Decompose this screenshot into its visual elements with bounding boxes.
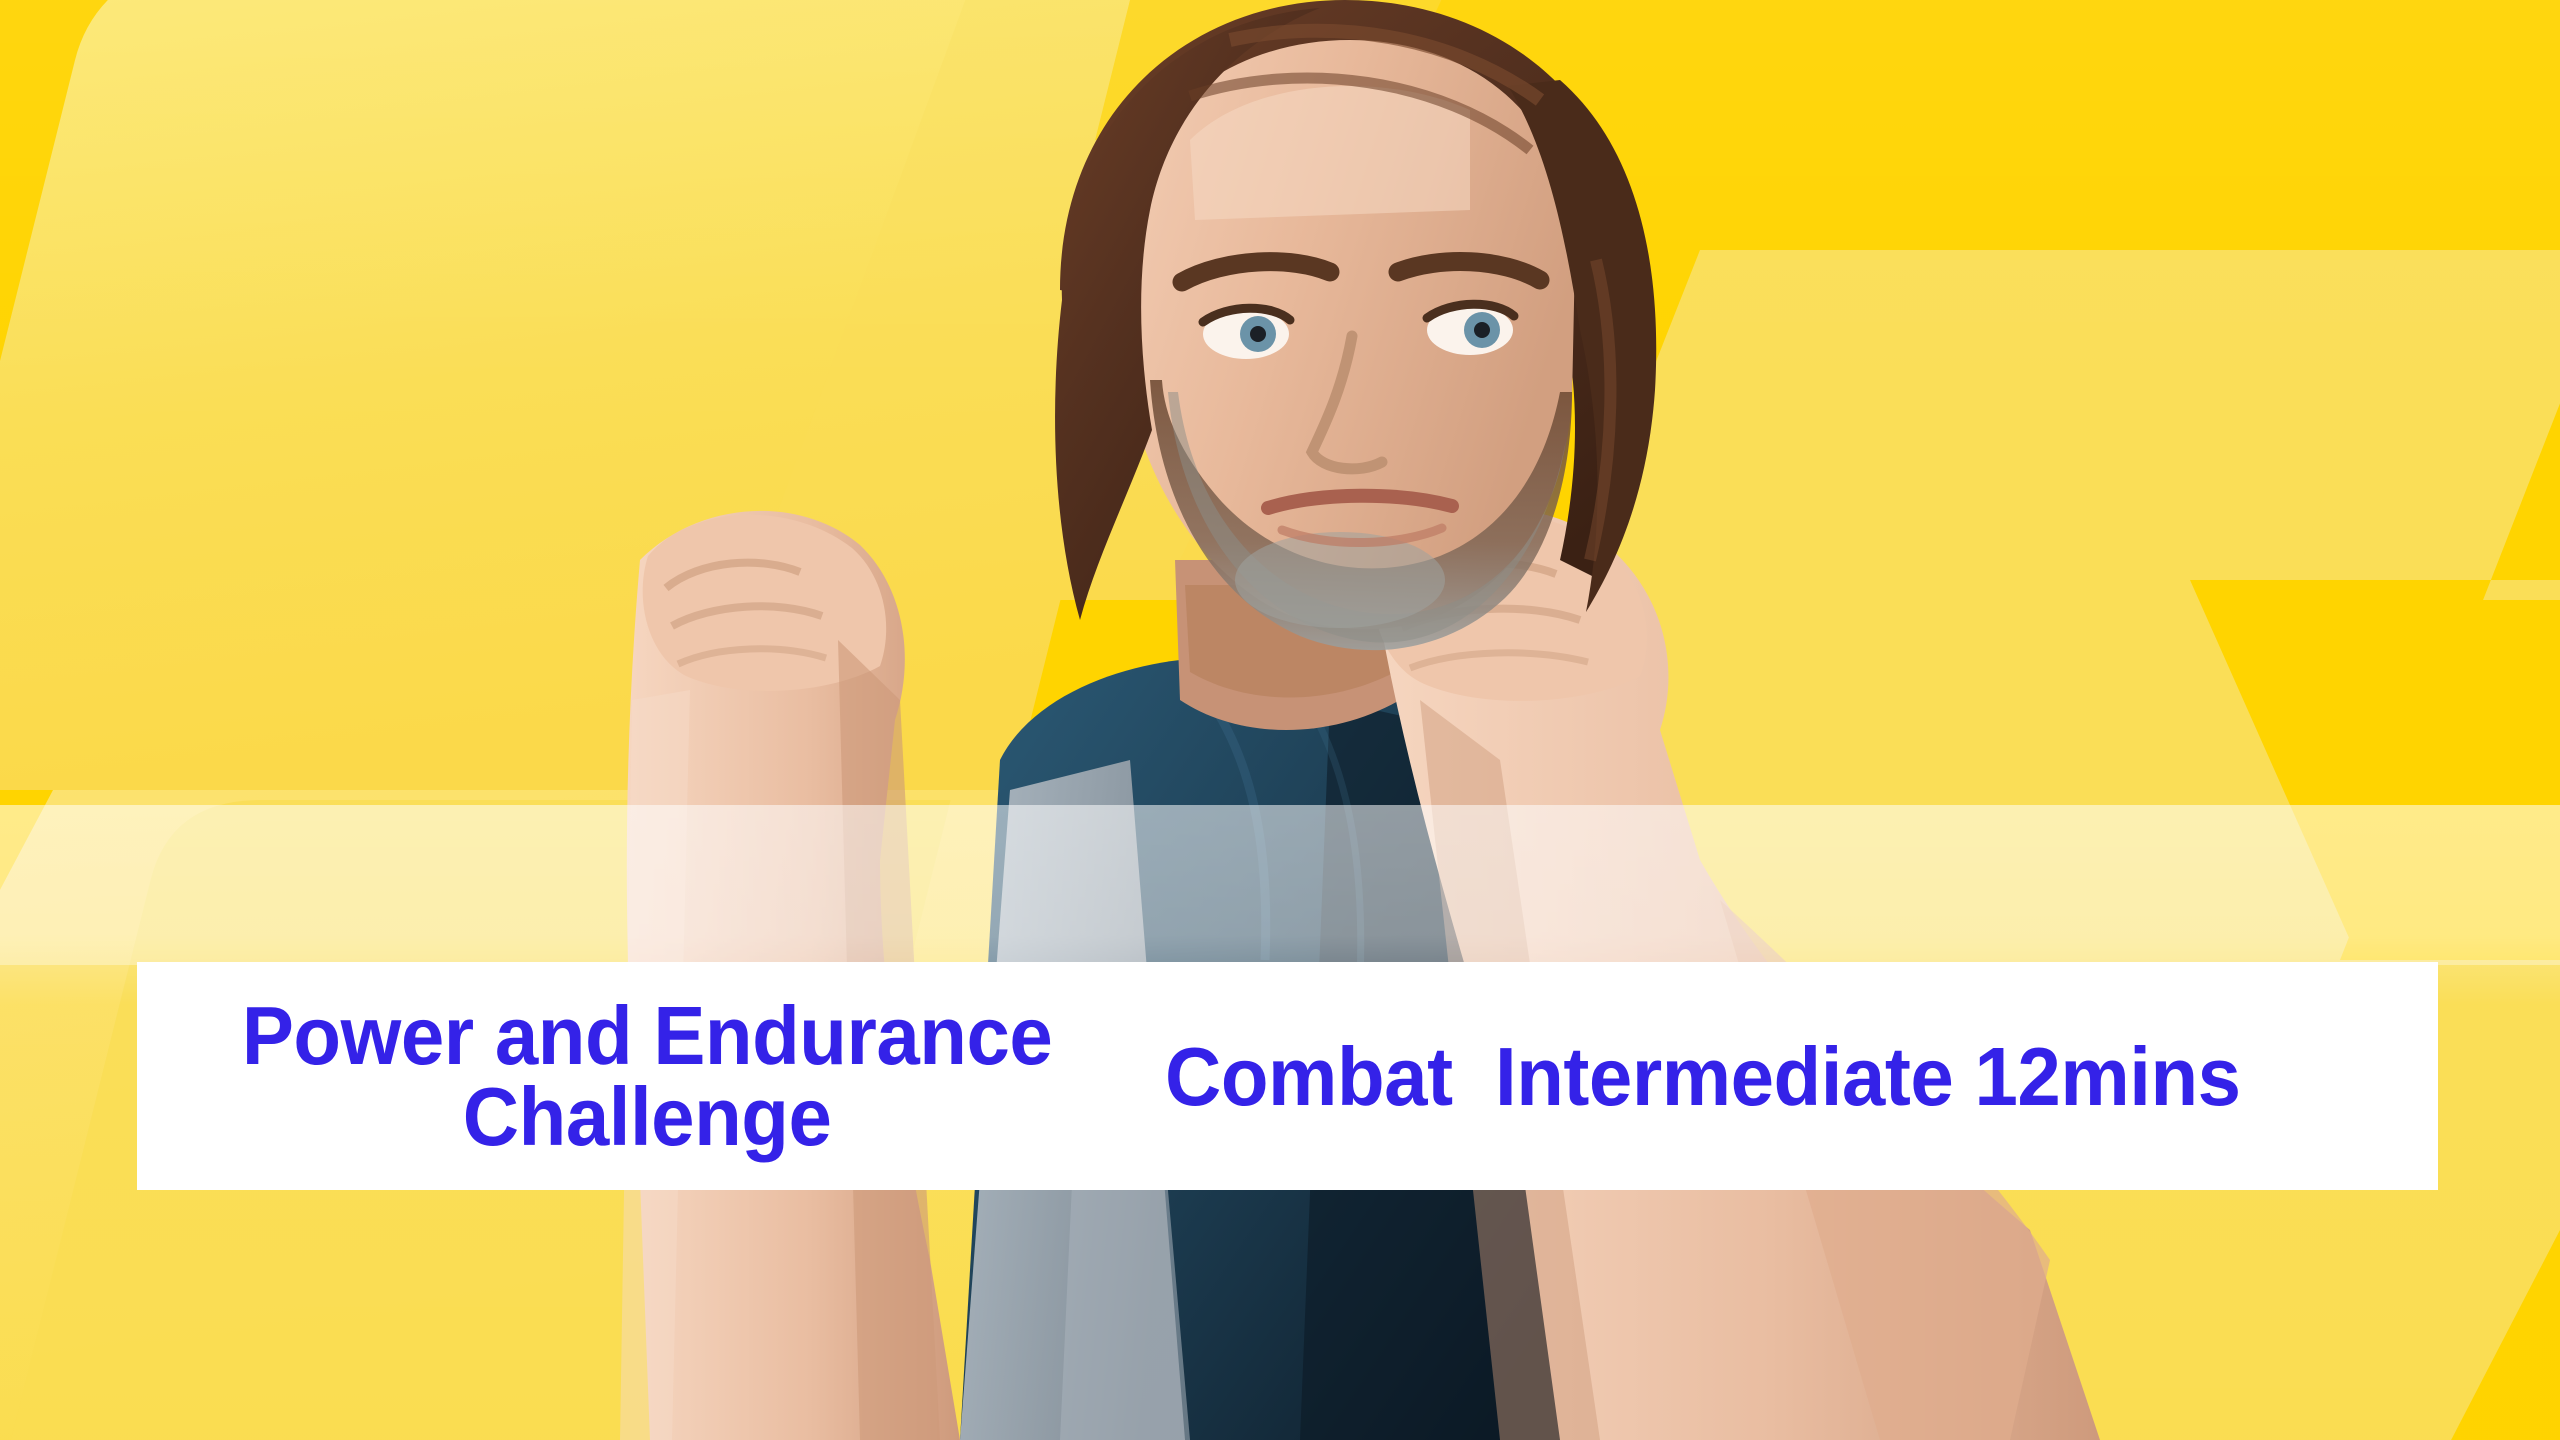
workout-meta: Combat Intermediate 12mins (1165, 1035, 2241, 1118)
workout-card[interactable]: Power and Endurance Challenge Combat Int… (0, 0, 2560, 1440)
banner-left-column: Power and Endurance Challenge (137, 995, 1147, 1158)
athlete-photo (0, 0, 2560, 1440)
title-banner[interactable]: Power and Endurance Challenge Combat Int… (137, 962, 2438, 1190)
workout-title: Power and Endurance Challenge (242, 995, 1052, 1158)
banner-right-column: Combat Intermediate 12mins (1147, 1035, 2438, 1118)
